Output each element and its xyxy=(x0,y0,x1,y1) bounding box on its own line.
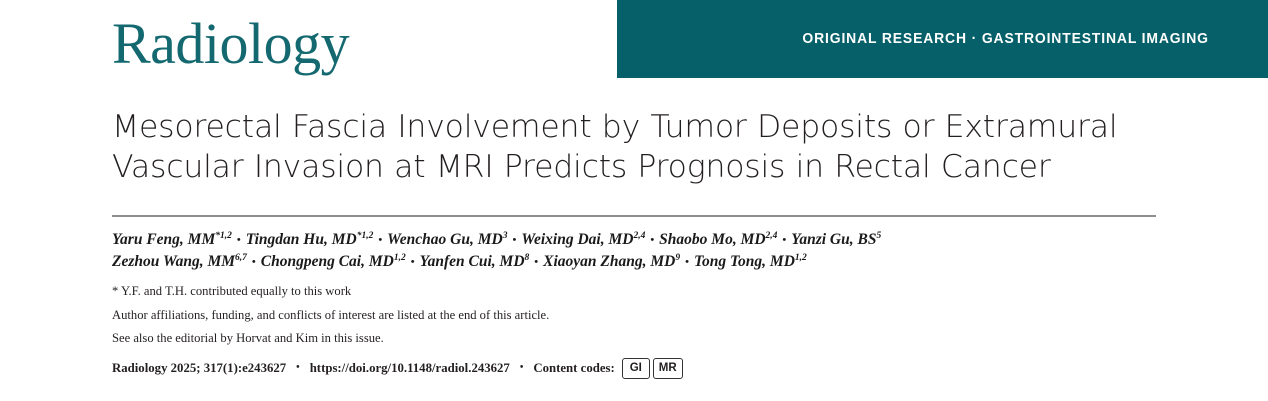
citation-separator-1: • xyxy=(286,363,310,373)
author-separator: • xyxy=(406,256,420,268)
author-name: Tingdan Hu, MD xyxy=(246,231,357,248)
citation-reference: Radiology 2025; 317(1):e243627 xyxy=(112,361,286,376)
author-name: Yaru Feng, MM xyxy=(112,231,215,248)
author-name: Zezhou Wang, MM xyxy=(112,253,235,270)
content-code-badge-gi[interactable]: GI xyxy=(622,358,650,380)
author-affiliation-marker: 5 xyxy=(876,231,881,241)
note-editorial: See also the editorial by Horvat and Kim… xyxy=(112,329,1156,349)
author-name: Chongpeng Cai, MD xyxy=(261,253,394,270)
author-name: Tong Tong, MD xyxy=(694,253,795,270)
author-name: Shaobo Mo, MD xyxy=(659,231,765,248)
page-title: Mesorectal Fascia Involvement by Tumor D… xyxy=(112,107,1156,187)
author-separator: • xyxy=(507,234,521,246)
content-code-badge-mr[interactable]: MR xyxy=(653,358,683,380)
citation-separator-2: • xyxy=(510,363,534,373)
note-equal-contribution: * Y.F. and T.H. contributed equally to t… xyxy=(112,282,1156,302)
title-line-1: Mesorectal Fascia Involvement by Tumor D… xyxy=(112,107,1156,147)
author-separator: • xyxy=(777,234,791,246)
author-separator: • xyxy=(247,256,261,268)
content-codes-label: Content codes: xyxy=(533,361,621,376)
author-affiliation-marker: 2,4 xyxy=(766,231,778,241)
article-category-label: ORIGINAL RESEARCH · GASTROINTESTINAL IMA… xyxy=(802,31,1268,47)
article-header-content: Mesorectal Fascia Involvement by Tumor D… xyxy=(112,78,1156,379)
author-separator: • xyxy=(529,256,543,268)
header-divider xyxy=(112,215,1156,217)
author-affiliation-marker: 1,2 xyxy=(795,253,807,263)
author-affiliation-marker: *1,2 xyxy=(215,231,232,241)
author-name: Wenchao Gu, MD xyxy=(387,231,503,248)
author-separator: • xyxy=(680,256,694,268)
author-separator: • xyxy=(232,234,246,246)
citation-doi-link[interactable]: https://doi.org/10.1148/radiol.243627 xyxy=(310,361,510,376)
author-row-1: Yaru Feng, MM*1,2•Tingdan Hu, MD*1,2•Wen… xyxy=(112,229,1156,251)
author-separator: • xyxy=(645,234,659,246)
article-notes: * Y.F. and T.H. contributed equally to t… xyxy=(112,282,1156,349)
author-affiliation-marker: *1,2 xyxy=(357,231,374,241)
author-affiliation-marker: 6,7 xyxy=(235,253,247,263)
author-affiliation-marker: 1,2 xyxy=(394,253,406,263)
author-name: Yanfen Cui, MD xyxy=(420,253,525,270)
author-list: Yaru Feng, MM*1,2•Tingdan Hu, MD*1,2•Wen… xyxy=(112,229,1156,273)
journal-logo: Radiology xyxy=(112,14,349,74)
author-name: Yanzi Gu, BS xyxy=(791,231,876,248)
author-affiliation-marker: 2,4 xyxy=(633,231,645,241)
author-separator: • xyxy=(373,234,387,246)
title-line-2: Vascular Invasion at MRI Predicts Progno… xyxy=(112,147,1156,187)
author-row-2: Zezhou Wang, MM6,7•Chongpeng Cai, MD1,2•… xyxy=(112,251,1156,273)
masthead: Radiology ORIGINAL RESEARCH · GASTROINTE… xyxy=(0,0,1268,78)
article-category-banner: ORIGINAL RESEARCH · GASTROINTESTINAL IMA… xyxy=(617,0,1268,78)
author-name: Xiaoyan Zhang, MD xyxy=(543,253,675,270)
note-affiliations: Author affiliations, funding, and confli… xyxy=(112,306,1156,326)
citation-line: Radiology 2025; 317(1):e243627 • https:/… xyxy=(112,358,1156,380)
author-name: Weixing Dai, MD xyxy=(521,231,633,248)
